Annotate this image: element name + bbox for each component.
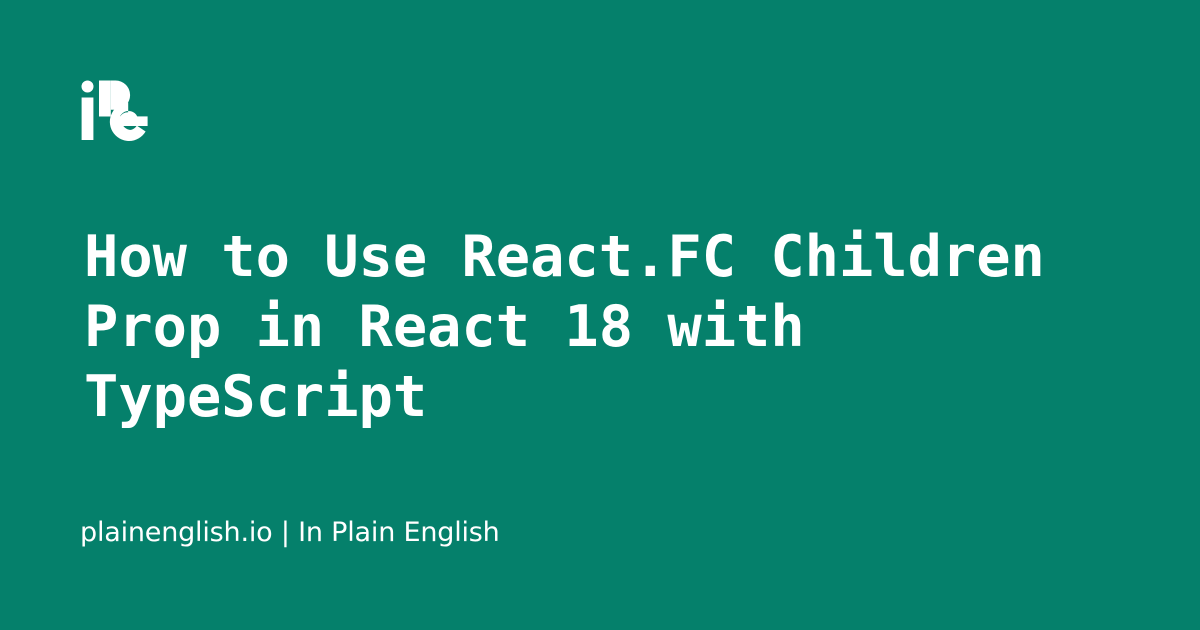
ipe-logo-icon: [80, 80, 150, 142]
og-card: How to Use React.FC Children Prop in Rea…: [0, 0, 1200, 630]
page-title: How to Use React.FC Children Prop in Rea…: [84, 222, 1124, 432]
title-block: How to Use React.FC Children Prop in Rea…: [84, 222, 1124, 432]
footer-block: plainenglish.io | In Plain English: [80, 515, 500, 551]
footer-attribution: plainenglish.io | In Plain English: [80, 515, 500, 551]
